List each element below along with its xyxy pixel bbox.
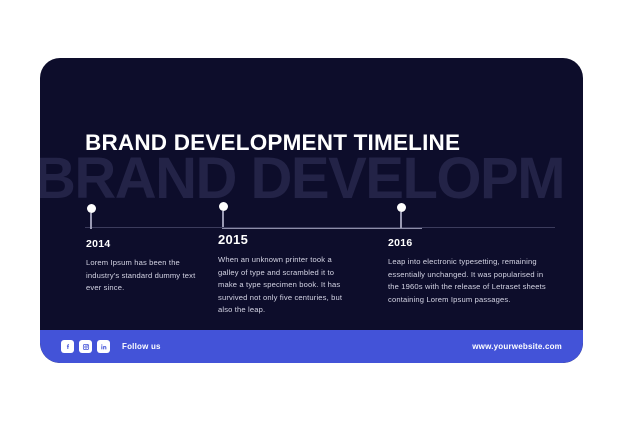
timeline-entry-body: Leap into electronic typesetting, remain… xyxy=(388,256,553,306)
linkedin-icon[interactable] xyxy=(97,340,110,353)
timeline-marker-2014[interactable] xyxy=(86,204,96,229)
instagram-icon[interactable] xyxy=(79,340,92,353)
slide-canvas: BRAND DEVELOPM BRAND DEVELOPMENT TIMELIN… xyxy=(0,0,632,421)
timeline-marker-2016[interactable] xyxy=(396,203,406,228)
timeline-entry-year: 2015 xyxy=(218,232,350,247)
timeline-entry-body: Lorem Ipsum has been the industry's stan… xyxy=(86,257,198,295)
timeline-entry-2015: 2015 When an unknown printer took a gall… xyxy=(218,232,350,317)
timeline-dot-icon xyxy=(87,204,96,213)
timeline-dot-icon xyxy=(397,203,406,212)
timeline-entry-body: When an unknown printer took a galley of… xyxy=(218,254,350,317)
timeline-entry-2016: 2016 Leap into electronic typesetting, r… xyxy=(388,237,553,306)
timeline-entry-2014: 2014 Lorem Ipsum has been the industry's… xyxy=(86,238,198,295)
facebook-icon[interactable] xyxy=(61,340,74,353)
social-links: Follow us xyxy=(61,340,161,353)
timeline-stem xyxy=(400,212,401,228)
timeline-entry-year: 2014 xyxy=(86,238,198,250)
page-title: BRAND DEVELOPMENT TIMELINE xyxy=(85,130,460,156)
watermark-text: BRAND DEVELOPM xyxy=(40,150,583,208)
timeline-marker-2015[interactable] xyxy=(218,202,228,227)
follow-us-label: Follow us xyxy=(122,342,161,351)
timeline-stem xyxy=(222,211,223,227)
timeline-stem xyxy=(90,213,91,229)
timeline-dot-icon xyxy=(219,202,228,211)
timeline-rail-highlight xyxy=(222,228,422,229)
timeline-card: BRAND DEVELOPM BRAND DEVELOPMENT TIMELIN… xyxy=(40,58,583,363)
timeline-entry-year: 2016 xyxy=(388,237,553,249)
footer-bar: Follow us www.yourwebsite.com xyxy=(40,330,583,363)
website-link[interactable]: www.yourwebsite.com xyxy=(472,342,562,351)
